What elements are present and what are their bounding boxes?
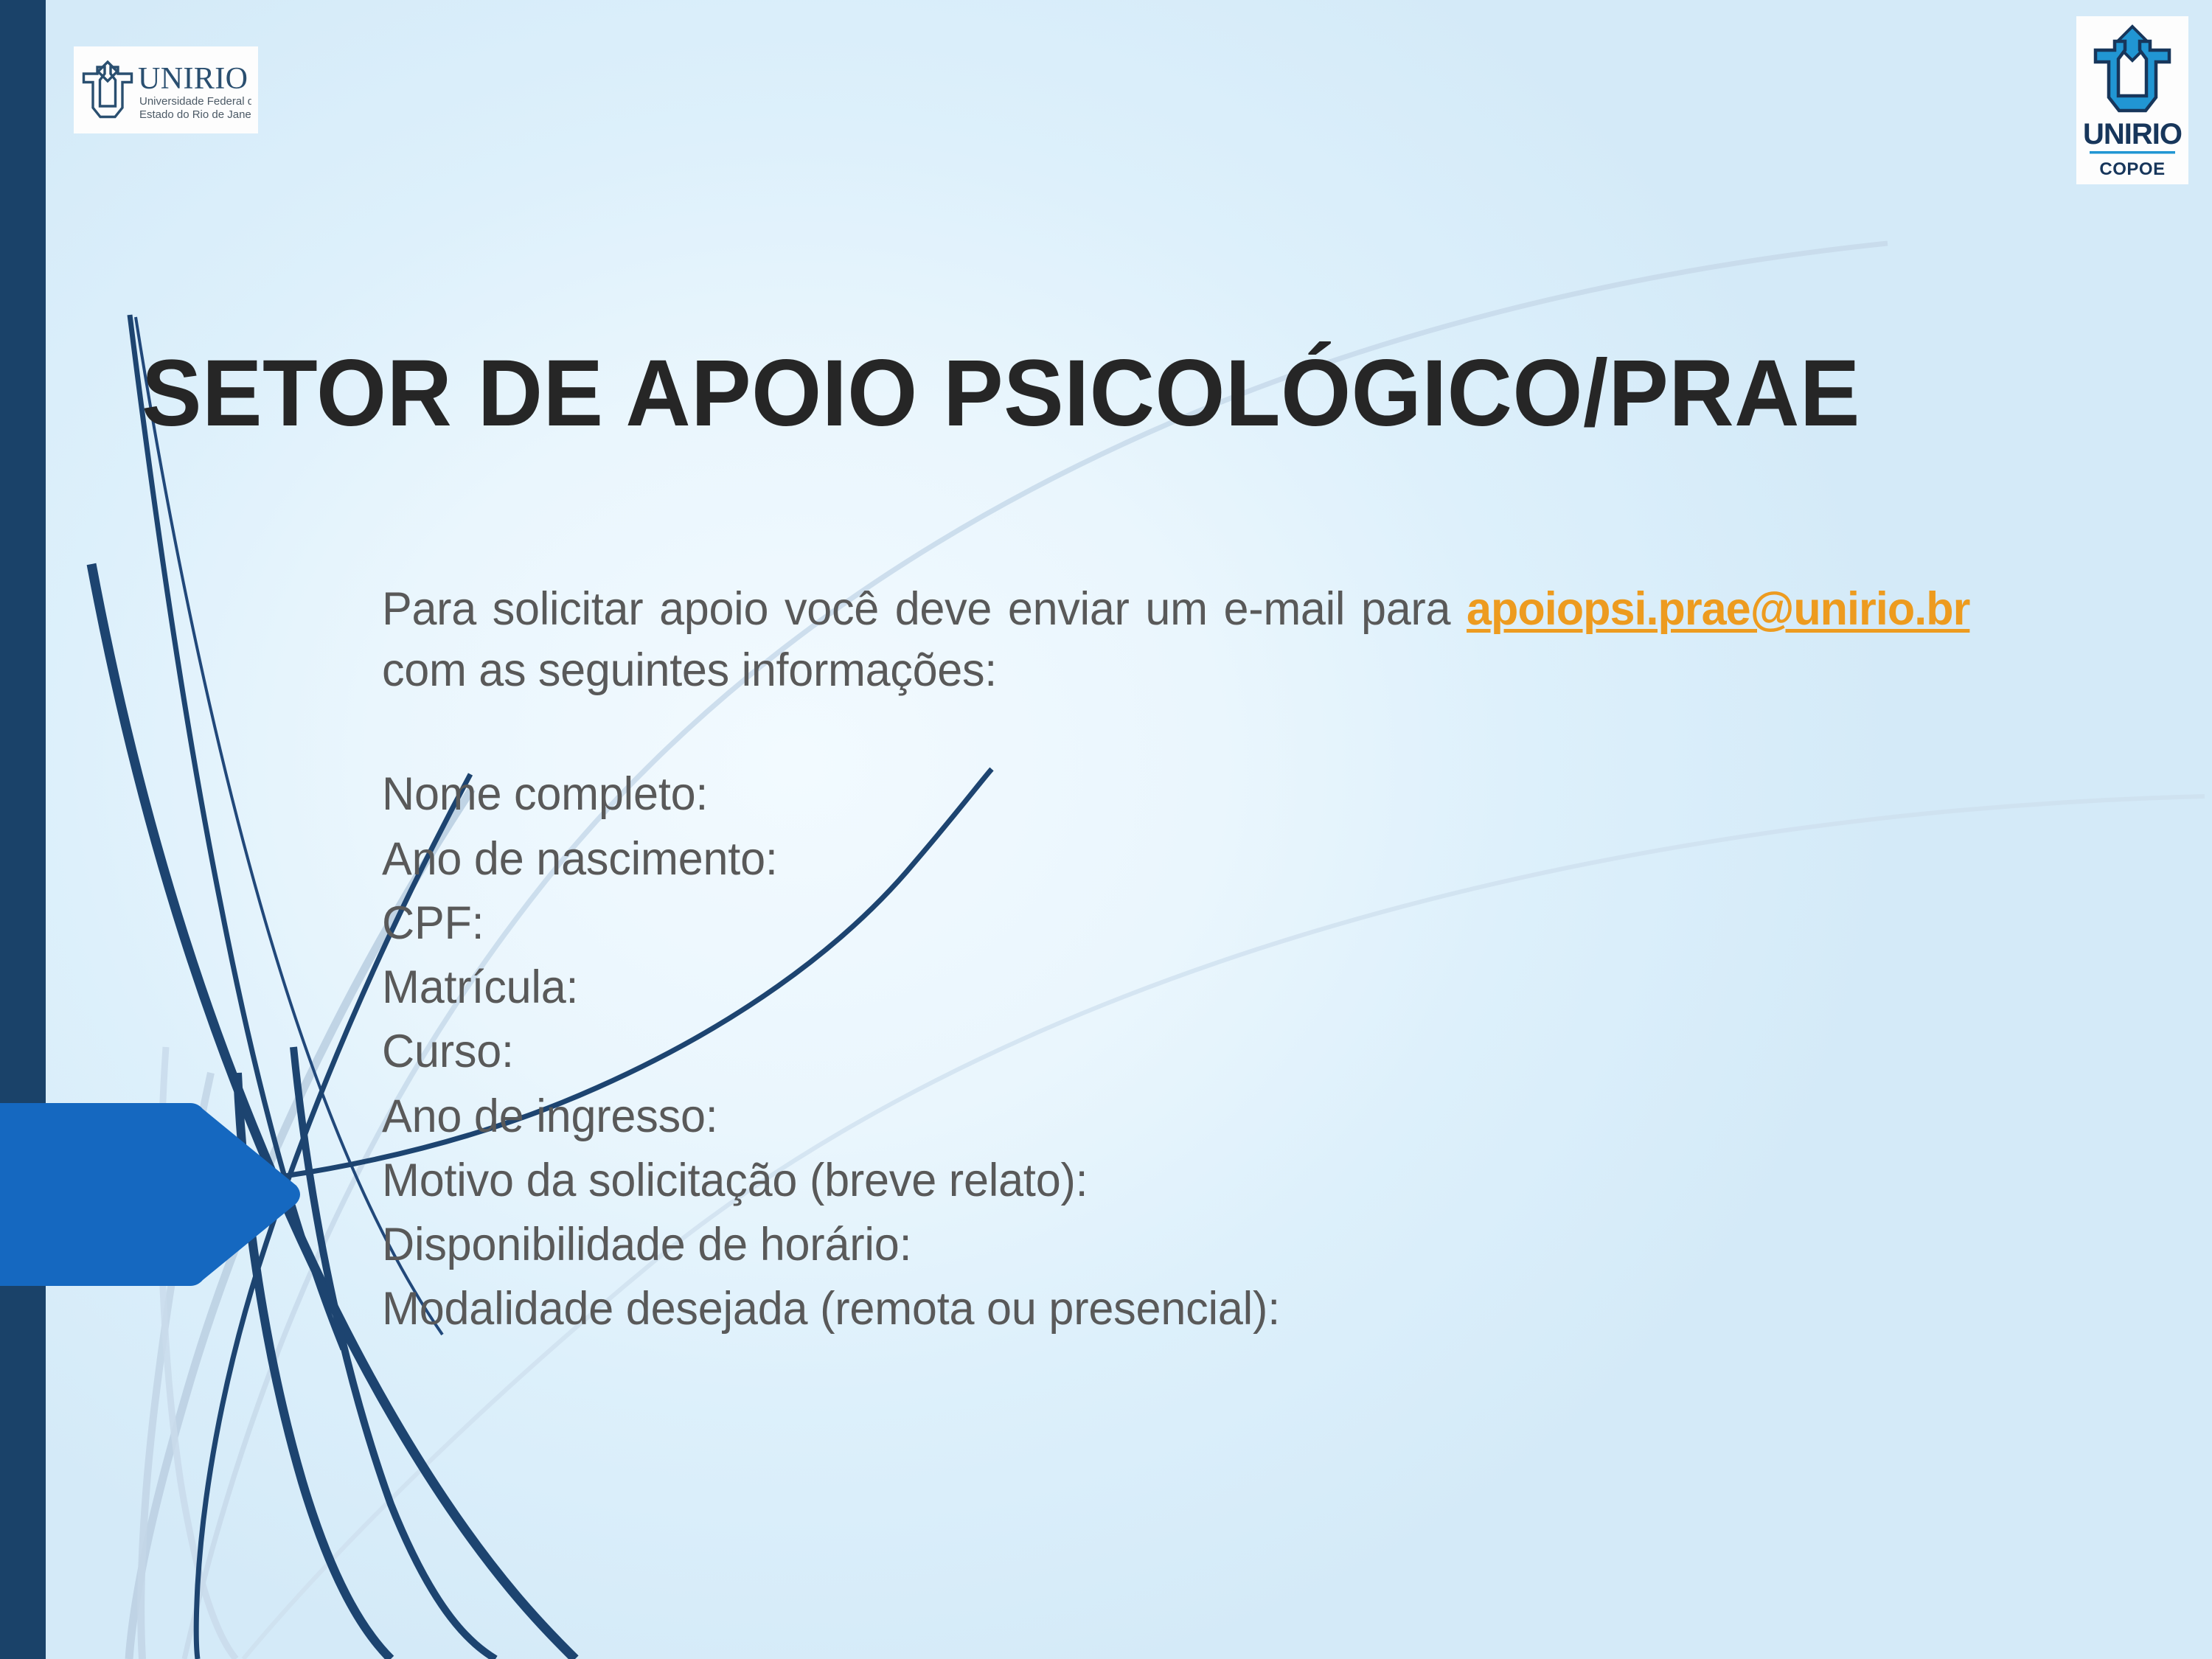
unirio-logo-acronym: UNIRIO	[138, 62, 248, 96]
unirio-logo-line1: Universidade Federal do	[139, 95, 251, 108]
unirio-copoe-acronym: UNIRIO	[2083, 118, 2182, 150]
left-accent-bar	[0, 0, 46, 1659]
unirio-copoe-logo-graphic: UNIRIO COPOE	[2076, 16, 2188, 184]
list-item: Ano de ingresso:	[382, 1085, 1969, 1149]
requested-info-list: Nome completo: Ano de nascimento: CPF: M…	[382, 762, 2019, 1341]
list-item: Matrícula:	[382, 956, 1969, 1020]
intro-text-before-link: Para solicitar apoio você deve enviar um…	[382, 583, 1467, 635]
logo-divider	[2090, 151, 2175, 154]
list-item: Nome completo:	[382, 762, 1969, 827]
list-item: Curso:	[382, 1020, 1969, 1084]
slide-canvas: UNIRIO Universidade Federal do Estado do…	[0, 0, 2212, 1659]
unirio-logo: UNIRIO Universidade Federal do Estado do…	[74, 46, 258, 133]
list-item: Disponibilidade de horário:	[382, 1213, 1969, 1277]
unirio-copoe-logo: UNIRIO COPOE	[2076, 16, 2188, 184]
email-link[interactable]: apoiopsi.prae@unirio.br	[1467, 583, 1969, 635]
page-title: SETOR DE APOIO PSICOLÓGICO/PRAE	[142, 347, 2043, 441]
unirio-logo-graphic: UNIRIO Universidade Federal do Estado do…	[80, 53, 251, 127]
list-item: CPF:	[382, 891, 1969, 956]
intro-paragraph: Para solicitar apoio você deve enviar um…	[382, 579, 1969, 701]
unirio-copoe-unit: COPOE	[2099, 159, 2165, 179]
intro-text-after-link: com as seguintes informações:	[382, 644, 997, 696]
list-item: Modalidade desejada (remota ou presencia…	[382, 1277, 1969, 1341]
unirio-logo-line2: Estado do Rio de Janeiro	[139, 108, 251, 121]
list-item: Motivo da solicitação (breve relato):	[382, 1149, 1969, 1213]
blue-arrow-shape	[0, 1099, 302, 1290]
slide-body: Para solicitar apoio você deve enviar um…	[382, 579, 2019, 1342]
list-item: Ano de nascimento:	[382, 827, 1969, 891]
